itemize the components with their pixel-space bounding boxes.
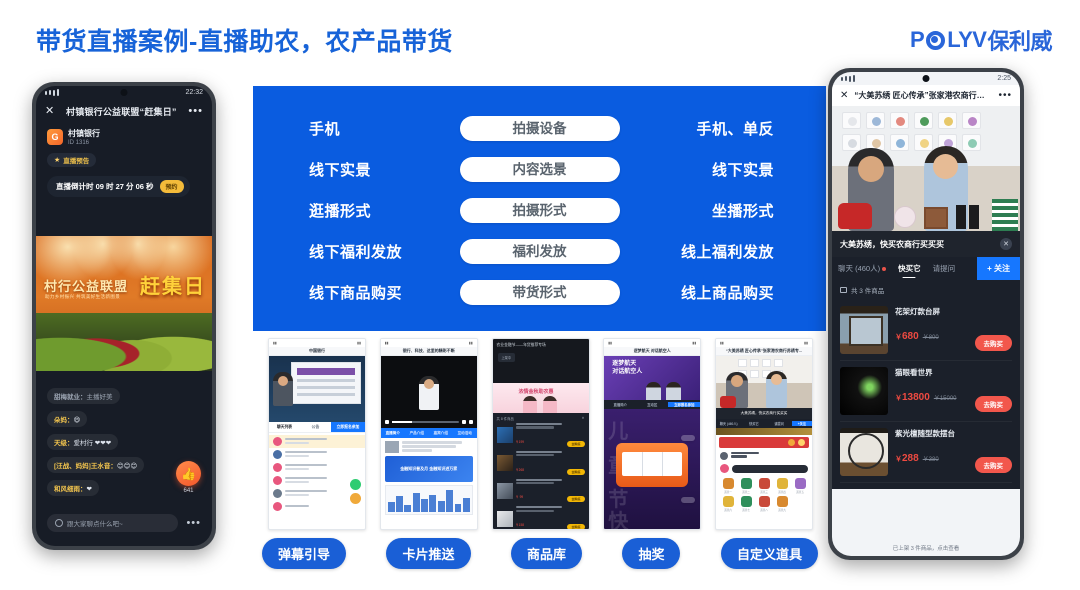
tab-ask-label: 请提问 — [933, 263, 956, 274]
speaker-figure — [419, 376, 439, 410]
thumb-status-bar: ▮▮▮▮ — [381, 339, 477, 347]
thumb-tab[interactable]: 聊天 (460人) — [716, 421, 741, 426]
product-price: ￥288 — [895, 453, 919, 464]
chat-message: 天级：爱村行 ❤❤❤ — [47, 434, 118, 450]
list-item: ￥199去购买 — [497, 423, 585, 448]
tab-ask[interactable]: 请提问 — [927, 257, 962, 280]
slot-machine-icon[interactable] — [616, 443, 688, 487]
speaker-figure — [273, 372, 293, 406]
gift-box-icon — [969, 205, 979, 229]
thumb-tab[interactable]: 快买它 — [741, 421, 766, 426]
red-notice-bar — [719, 437, 809, 448]
thumb-tab[interactable]: 产品介绍 — [405, 428, 429, 438]
thumb-tab[interactable]: 互动活动 — [453, 428, 477, 438]
thumb-promo: 浓情金秋助农惠 — [493, 383, 589, 413]
emoji-icon[interactable] — [55, 519, 63, 527]
tab-buy-label: 快买它 — [898, 263, 921, 274]
offline-label: 逛播形式 — [253, 200, 460, 221]
chat-nick: 朵妈： — [54, 417, 74, 424]
thumbnail-danmu[interactable]: ▮▮▮▮ 中国银行 聊天列表 公告 立即报名参加 — [268, 338, 366, 530]
thumb-titlebar: 中国银行 — [269, 347, 365, 356]
comparison-row: 线下商品购买 带货形式 线上商品购买 — [253, 272, 826, 313]
slide-root: 带货直播案例-直播助农，农产品带货 P LYV 保利威 手机 拍摄设备 手机、单… — [0, 0, 1080, 590]
list-item[interactable]: 花架灯款台屏 ￥680 ￥800 去购买 — [840, 300, 1012, 361]
host-figure — [543, 396, 557, 413]
signal-icons — [45, 89, 59, 96]
thumbs-up-icon[interactable]: 👍 — [176, 461, 201, 486]
goods-count-label: 共 3 件商品 — [851, 285, 884, 295]
thumb-cta[interactable]: 立即报名参加 — [331, 422, 365, 432]
product-thumbnail — [840, 428, 888, 476]
prop-item[interactable]: 道具四 — [774, 478, 790, 494]
product-thumbnail — [840, 367, 888, 415]
buy-button[interactable]: 去购买 — [975, 335, 1013, 351]
like-count: 641 — [176, 488, 201, 494]
close-icon[interactable]: ✕ — [840, 90, 848, 101]
tab-chat-label: 聊天 (460人) — [838, 263, 880, 274]
goods-count-header: 共 3 件商品 — [832, 280, 1020, 300]
goods-bottom-hint: 已上架 3 件商品，点击查看 — [832, 544, 1020, 552]
thumb-title: 逐梦航天 对话航空人 — [634, 348, 671, 354]
list-item[interactable]: 紫光檀随型款摆台 ￥288 ￥380 去购买 — [840, 422, 1012, 483]
left-phone-titlebar: ✕ 村镇银行公益联盟“赶集日” ••• — [36, 99, 212, 122]
framed-art-icon — [924, 207, 948, 229]
banner-subtext: 助力乡村振兴 共筑美好生活新图景 — [45, 294, 120, 300]
chat-input[interactable]: 跟大家聊点什么吧~ — [47, 514, 178, 532]
thumb-titlebar: “大美苏绣 匠心传承”张家港农商行苏绣专... — [716, 347, 812, 356]
poster-card: 金融知识普及月 金融知识进万家 — [385, 456, 473, 482]
promo-text: 大美苏绣，快买农商行买买买 — [840, 239, 944, 250]
account-name: 村镇银行 — [68, 128, 100, 139]
list-item — [269, 448, 365, 461]
thumb-status-bar: ▮▮▮▮ — [604, 339, 700, 347]
camera-notch-icon — [121, 89, 128, 96]
thumbnail-lottery[interactable]: ▮▮▮▮ 逐梦航天 对话航空人 逐梦航天对话航空人 直播简介 互动区 立即报名参… — [603, 338, 701, 530]
goods-count: 共 8 件商品✕ — [497, 416, 585, 421]
thumb-content: 金融知识普及月 金融知识进万家 — [381, 438, 477, 518]
follow-button[interactable]: + 关注 — [977, 257, 1020, 280]
category-pill[interactable]: 拍摄形式 — [460, 198, 620, 223]
lottery-game[interactable]: 儿 童 节 快 — [604, 409, 700, 529]
banner-text-gold: 赶集日 — [140, 270, 206, 299]
product-name: 花架灯款台屏 — [895, 306, 1012, 317]
right-phone-mockup: 2:25 ✕ “大美苏绣 匠心传承”张家港农商行苏绣专... ••• — [828, 68, 1024, 560]
feature-screenshots: ▮▮▮▮ 中国银行 聊天列表 公告 立即报名参加 — [268, 338, 813, 530]
thumb-float-buttons — [350, 479, 361, 507]
host-figure — [523, 396, 537, 413]
chat-message: 和风细雨：❤ — [47, 480, 99, 496]
gold-banner — [716, 428, 812, 435]
thumb-goods-list: 共 8 件商品✕ ￥199去购买 ￥268去购买 ￥ 99去购买 ￥158去购买 — [493, 413, 589, 530]
comparison-row: 逛播形式 拍摄形式 坐播形式 — [253, 190, 826, 231]
list-item: ￥268去购买 — [497, 451, 585, 476]
close-icon[interactable]: ✕ — [45, 106, 54, 117]
thumb-tabs: 直播简介 互动区 立即报名参加 — [604, 400, 700, 409]
stream-title: 村镇银行公益联盟“赶集日” — [66, 105, 177, 118]
thumb-tab[interactable]: 嘉宾介绍 — [429, 428, 453, 438]
thumb-tab[interactable]: 直播简介 — [381, 428, 405, 438]
red-bag-icon — [720, 396, 736, 408]
offline-label: 线下商品购买 — [253, 282, 460, 303]
decor-pill — [681, 497, 695, 503]
thumbnail-card-push[interactable]: ▮▮▮▮ 银行、科技、这里的精彩不断 直播简介 产品介绍 嘉宾介绍 互动活动 金… — [380, 338, 478, 530]
host-female — [766, 371, 787, 408]
online-label: 手机、单反 — [620, 118, 827, 139]
thumb-tabs: 聊天 (460人) 快买它 请提问 +关注 — [716, 419, 812, 428]
brand-cn: 保利威 — [987, 24, 1052, 56]
decor-char: 儿 — [608, 415, 628, 444]
thumbnail-goods-library[interactable]: 农业金融节——年货推荐专场 上架中 浓情金秋助农惠 共 8 件商品✕ ￥199去… — [492, 338, 590, 530]
brand-prefix: P — [910, 27, 924, 53]
product-old-price: ￥800 — [923, 332, 939, 341]
more-icon[interactable]: ••• — [188, 106, 203, 117]
slide-share — [291, 362, 361, 404]
product-name: 猫眼看世界 — [895, 367, 1012, 378]
thumbnail-custom-props[interactable]: ▮▮▮▮ “大美苏绣 匠心传承”张家港农商行苏绣专... 大美苏绣，快买农商行买… — [715, 338, 813, 530]
banner-headline: 逐梦航天对话航空人 — [612, 361, 642, 376]
comparison-panel: 手机 拍摄设备 手机、单反 线下实景 内容选景 线下实景 逛播形式 拍摄形式 坐… — [253, 86, 826, 331]
chat-text: 😊😊😊 — [117, 463, 137, 470]
prop-item[interactable]: 道具三 — [756, 478, 772, 494]
right-phone-titlebar: ✕ “大美苏绣 匠心传承”张家港农商行苏绣专... ••• — [832, 85, 1020, 106]
stream-tabs: 聊天 (460人) 快买它 请提问 + 关注 — [832, 257, 1020, 280]
goods-list: 花架灯款台屏 ￥680 ￥800 去购买 猫眼看世界 ￥13800 — [832, 300, 1020, 489]
banner-text-cn: 村行公益联盟 — [44, 276, 128, 295]
chat-message: 甜梅就业：主播好美 — [47, 388, 120, 404]
left-phone-screen: 22:32 ✕ 村镇银行公益联盟“赶集日” ••• G 村镇银行 ID 1316… — [36, 86, 212, 546]
chat-nick: 和风细雨： — [54, 486, 87, 493]
online-label: 线上福利发放 — [620, 241, 827, 262]
host-figure — [666, 382, 681, 400]
push-card — [385, 441, 473, 453]
unread-dot-icon — [882, 267, 886, 271]
category-pill[interactable]: 福利发放 — [460, 239, 620, 264]
thumb-video: 农业金融节——年货推荐专场 上架中 — [493, 339, 589, 383]
tab-chat[interactable]: 聊天 (460人) — [832, 257, 892, 280]
gift-box-icon — [956, 205, 966, 229]
feature-button-danmu[interactable]: 弹幕引导 — [262, 538, 346, 569]
comparison-row: 手机 拍摄设备 手机、单反 — [253, 108, 826, 149]
chat-nick: [汪战、妈妈]王水音： — [54, 463, 117, 470]
category-pill[interactable]: 带货形式 — [460, 280, 620, 305]
countdown-text: 直播倒计时 09 时 27 分 06 秒 — [56, 181, 154, 192]
thumb-video — [381, 356, 477, 428]
signal-icons — [841, 75, 855, 82]
comparison-row: 线下福利发放 福利发放 线上福利发放 — [253, 231, 826, 272]
offline-label: 线下福利发放 — [253, 241, 460, 262]
prop-item[interactable]: 道具八 — [756, 496, 772, 512]
feature-button-card-push[interactable]: 卡片推送 — [386, 538, 470, 569]
thumb-tab[interactable]: 请提问 — [767, 421, 792, 426]
thumb-title: 农业金融节——年货推荐专场 — [497, 343, 546, 348]
thumb-status-bar: ▮▮▮▮ — [269, 339, 365, 347]
polyv-logo: P LYV 保利威 — [910, 24, 1052, 56]
thumb-cta[interactable]: +关注 — [792, 421, 812, 426]
thumb-titlebar: 银行、科技、这里的精彩不断 — [381, 347, 477, 356]
chat-message: [汪战、妈妈]王水音：😊😊😊 — [47, 457, 144, 473]
list-item — [269, 461, 365, 474]
list-item[interactable]: 猫眼看世界 ￥13800 ￥15000 去购买 — [840, 361, 1012, 422]
online-label: 线下实景 — [620, 159, 827, 180]
promo-banner: 大美苏绣，快买农商行买买买 ✕ — [832, 231, 1020, 257]
list-item — [269, 435, 365, 448]
battery-time: 2:25 — [997, 75, 1011, 82]
stream-photo: 村行公益联盟 赶集日 助力乡村振兴 共筑美好生活新图景 — [36, 236, 212, 371]
chat-input-bar: 跟大家聊点什么吧~ ••• — [36, 514, 212, 532]
promo-close-icon[interactable]: ✕ — [1000, 238, 1012, 250]
feature-button-goods[interactable]: 商品库 — [511, 538, 582, 569]
scarf-icon — [992, 199, 1018, 231]
host-figure — [646, 382, 661, 400]
tab-buy[interactable]: 快买它 — [892, 257, 927, 280]
feature-button-lottery[interactable]: 抽奖 — [622, 538, 680, 569]
thumb-title: “大美苏绣 匠心传承”张家港农商行苏绣专... — [726, 348, 802, 354]
chat-text: 😄 — [74, 417, 81, 424]
bulb-icon: ★ — [54, 156, 60, 164]
chat-text: ❤ — [87, 486, 92, 493]
buy-button[interactable]: 去购买 — [975, 457, 1013, 473]
product-thumbnail — [840, 306, 888, 354]
thumb-tab[interactable]: 公告 — [300, 422, 331, 432]
list-item: ￥158去购买 — [497, 506, 585, 530]
thumb-video — [269, 356, 365, 422]
chart-image — [385, 485, 473, 515]
brand-o-icon — [926, 31, 945, 50]
promo-text: 浓情金秋助农惠 — [519, 388, 554, 395]
category-pill[interactable]: 拍摄设备 — [460, 116, 620, 141]
status-badge-label: 直播预告 — [63, 155, 89, 165]
subscribe-button[interactable]: 预约 — [160, 180, 184, 193]
more-options-icon[interactable]: ••• — [186, 517, 201, 529]
thumb-title: 银行、科技、这里的精彩不断 — [403, 348, 455, 354]
thumb-video — [716, 356, 812, 408]
thumb-promo: 大美苏绣，快买农商行买买买 — [716, 408, 812, 419]
feature-buttons: 弹幕引导 卡片推送 商品库 抽奖 自定义道具 — [262, 538, 818, 569]
prop-item[interactable]: 道具二 — [738, 478, 754, 494]
chat-input-placeholder: 跟大家聊点什么吧~ — [67, 518, 123, 528]
chat-text: 主播好美 — [87, 394, 113, 401]
brand-mid: LYV — [947, 27, 986, 53]
thumb-tab[interactable]: 互动区 — [636, 402, 668, 407]
prop-item[interactable]: 道具七 — [738, 496, 754, 512]
more-icon[interactable]: ••• — [998, 90, 1012, 101]
chat-message: 朵妈：😄 — [47, 411, 87, 427]
account-id: ID 1316 — [68, 140, 100, 146]
fan-icon — [894, 206, 916, 228]
shopping-bag-icon — [840, 287, 847, 293]
product-old-price: ￥15000 — [934, 393, 957, 402]
thumb-chip: 上架中 — [498, 353, 516, 362]
prop-item[interactable]: 道具九 — [774, 496, 790, 512]
video-controls[interactable] — [381, 420, 477, 424]
product-old-price: ￥380 — [923, 454, 939, 463]
offline-label: 手机 — [253, 118, 460, 139]
prop-item[interactable]: 道具一 — [720, 478, 736, 494]
chat-input[interactable] — [720, 464, 808, 473]
decor-char: 快 — [608, 505, 628, 529]
vegetables-display — [36, 313, 212, 371]
page-title: 带货直播案例-直播助农，农产品带货 — [36, 22, 453, 58]
red-bag-icon — [838, 203, 872, 229]
category-pill[interactable]: 内容选景 — [460, 157, 620, 182]
online-label: 线上商品购买 — [620, 282, 827, 303]
right-phone-screen: 2:25 ✕ “大美苏绣 匠心传承”张家港农商行苏绣专... ••• — [832, 72, 1020, 556]
thumb-banner: 逐梦航天对话航空人 — [604, 356, 700, 400]
status-badge: ★ 直播预告 — [47, 153, 96, 167]
thumb-tab[interactable]: 聊天列表 — [269, 422, 300, 432]
thumb-title: 中国银行 — [309, 348, 325, 354]
thumb-cta[interactable]: 立即报名参加 — [668, 402, 700, 407]
comparison-row: 线下实景 内容选景 线下实景 — [253, 149, 826, 190]
decor-pill — [681, 435, 695, 441]
thumb-tabs: 聊天列表 公告 立即报名参加 — [269, 422, 365, 433]
chat-text: 爱村行 ❤❤❤ — [74, 440, 112, 447]
battery-time: 22:32 — [185, 89, 203, 96]
feature-button-custom-props[interactable]: 自定义道具 — [721, 538, 818, 569]
online-label: 坐播形式 — [620, 200, 827, 221]
avatar: G — [47, 129, 63, 145]
custom-props-grid[interactable]: 道具一 道具二 道具三 道具四 道具五 道具六 道具七 道具八 道具九 — [716, 475, 812, 515]
left-phone-mockup: 22:32 ✕ 村镇银行公益联盟“赶集日” ••• G 村镇银行 ID 1316… — [32, 82, 216, 550]
countdown-bar: 直播倒计时 09 时 27 分 06 秒 预约 — [47, 176, 190, 197]
thumb-status-bar: ▮▮▮▮ — [716, 339, 812, 347]
live-video[interactable] — [832, 106, 1020, 231]
stream-title: “大美苏绣 匠心传承”张家港农商行苏绣专... — [854, 90, 992, 101]
list-item: ￥ 99去购买 — [497, 479, 585, 504]
product-price: ￥680 — [895, 331, 919, 342]
product-table — [832, 199, 1020, 231]
embroidery-wall-icons — [842, 112, 981, 151]
comparison-rows: 手机 拍摄设备 手机、单反 线下实景 内容选景 线下实景 逛播形式 拍摄形式 坐… — [253, 86, 826, 313]
broadcaster-account[interactable]: G 村镇银行 ID 1316 — [36, 122, 212, 146]
status-time: 2:25 — [997, 75, 1011, 82]
buy-button[interactable]: 去购买 — [975, 396, 1013, 412]
chat-nick: 甜梅就业： — [54, 394, 87, 401]
status-time: 22:32 — [185, 89, 203, 96]
chat-nick: 天级： — [54, 440, 74, 447]
thumb-tabs: 直播简介 产品介绍 嘉宾介绍 互动活动 — [381, 428, 477, 438]
prop-item[interactable]: 道具六 — [720, 496, 736, 512]
offline-label: 线下实景 — [253, 159, 460, 180]
like-control[interactable]: 👍 641 — [176, 461, 201, 494]
list-item — [716, 450, 812, 462]
prop-item[interactable]: 道具五 — [792, 478, 808, 494]
camera-notch-icon — [923, 75, 930, 82]
product-name: 紫光檀随型款摆台 — [895, 428, 1012, 439]
product-price: ￥13800 — [895, 392, 930, 403]
thumb-tab[interactable]: 直播简介 — [604, 402, 636, 407]
slot-window — [622, 452, 682, 476]
thumb-titlebar: 逐梦航天 对话航空人 — [604, 347, 700, 356]
